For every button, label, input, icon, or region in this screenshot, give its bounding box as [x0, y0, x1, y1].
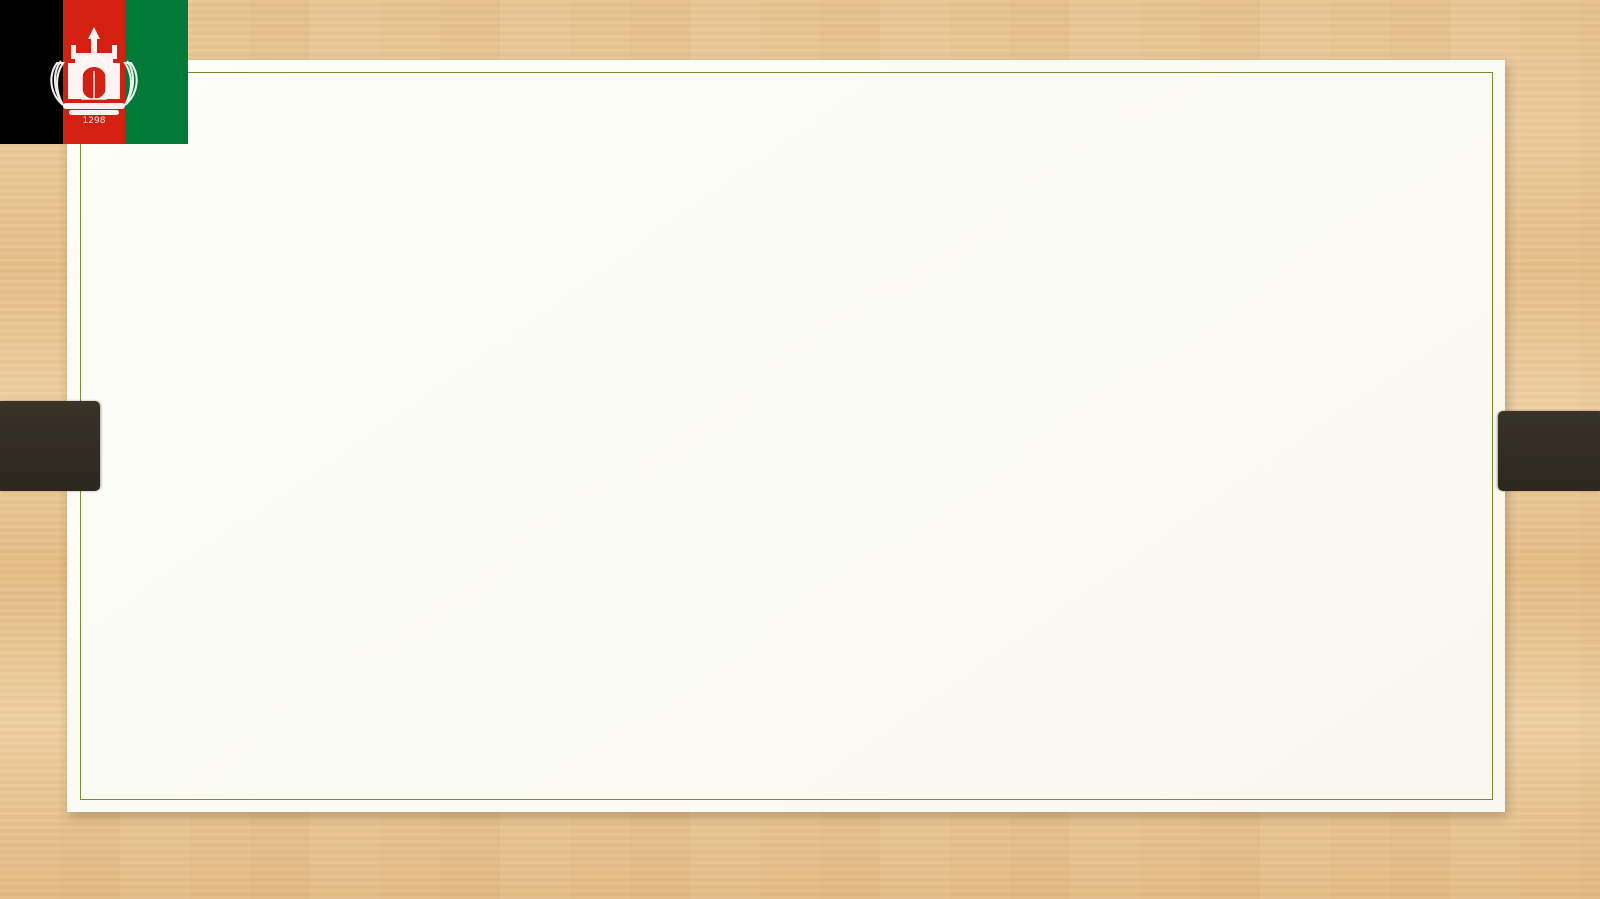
afghanistan-flag-image: 1298	[0, 0, 188, 144]
slide-content-card	[67, 60, 1505, 812]
presentation-slide: 1298 Yangi davrda Afg‘oniston Afg‘onisto…	[0, 0, 1600, 899]
svg-text:1298: 1298	[83, 116, 106, 126]
decorative-bar-right	[1498, 411, 1600, 491]
card-inner-border	[80, 72, 1493, 800]
decorative-bar-left	[0, 401, 100, 491]
afghanistan-emblem-icon: 1298	[39, 11, 149, 133]
